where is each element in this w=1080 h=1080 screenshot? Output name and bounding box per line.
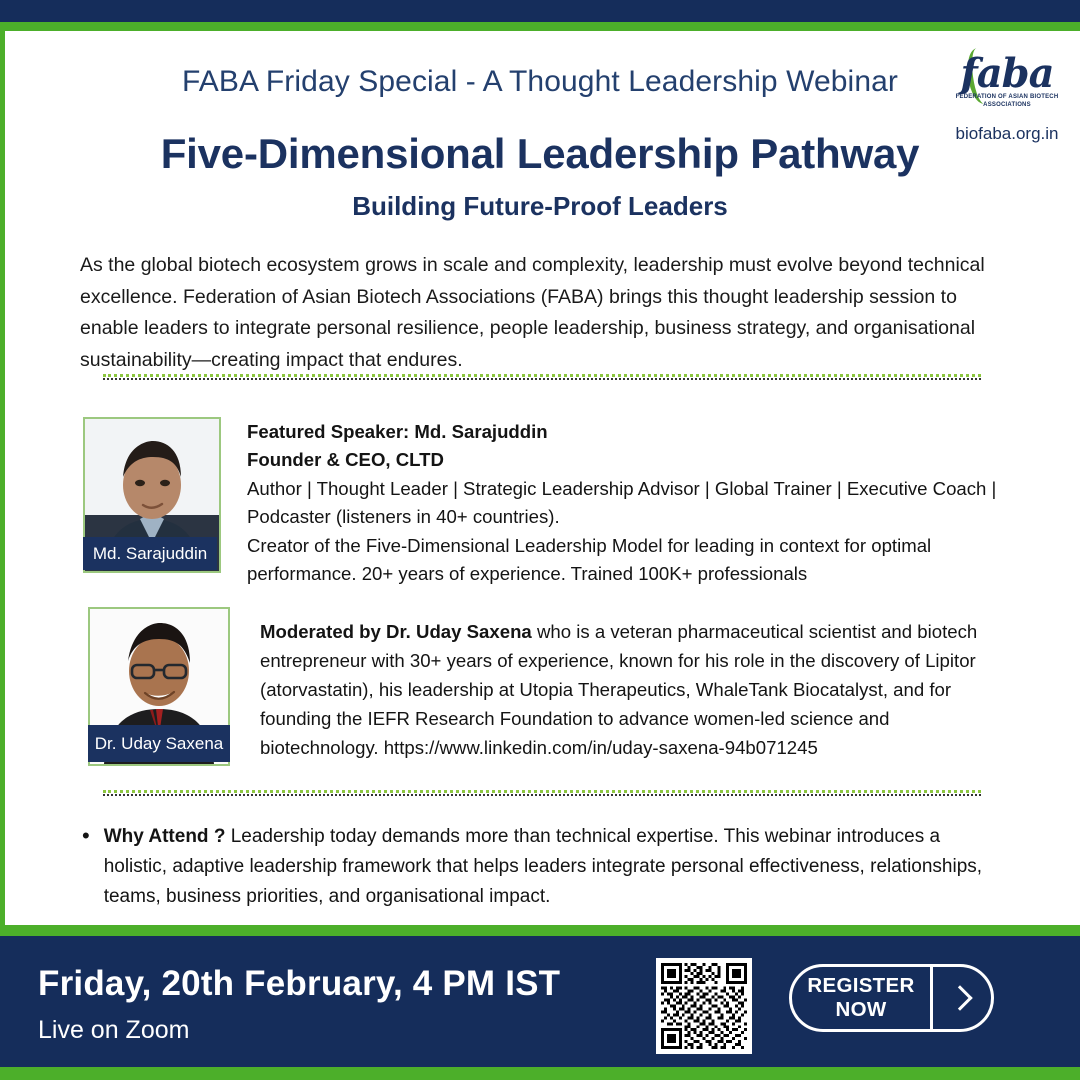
speaker-credentials: Author | Thought Leader | Strategic Lead…: [247, 475, 999, 532]
faba-logo-mark: faba FEDERATION OF ASIAN BIOTECH ASSOCIA…: [948, 48, 1066, 118]
bullet-icon: •: [82, 822, 90, 911]
footer-bar: Friday, 20th February, 4 PM IST Live on …: [0, 936, 1080, 1067]
why-attend-text: Why Attend ? Leadership today demands mo…: [104, 822, 1002, 911]
event-date: Friday, 20th February, 4 PM IST: [38, 964, 560, 1004]
speaker-role: Founder & CEO, CLTD: [247, 446, 999, 474]
moderator-lead: Moderated by Dr. Uday Saxena: [260, 621, 532, 642]
event-platform: Live on Zoom: [38, 1016, 189, 1045]
why-attend-section: • Why Attend ? Leadership today demands …: [82, 822, 1002, 911]
faba-tagline: FEDERATION OF ASIAN BIOTECH ASSOCIATIONS: [948, 94, 1066, 109]
page-subtitle: Building Future-Proof Leaders: [0, 191, 1080, 222]
qr-code[interactable]: [656, 958, 752, 1054]
qr-code-art: [661, 963, 747, 1049]
faba-website-url: biofaba.org.in: [948, 124, 1066, 144]
register-now-button[interactable]: REGISTER NOW: [789, 964, 994, 1032]
speaker-details: Featured Speaker: Md. Sarajuddin Founder…: [247, 418, 999, 589]
intro-paragraph: As the global biotech ecosystem grows in…: [80, 250, 1000, 376]
header: FABA Friday Special - A Thought Leadersh…: [0, 52, 1080, 237]
divider-green-dots: [103, 374, 981, 377]
top-navy-band: [0, 0, 1080, 22]
moderator-details: Moderated by Dr. Uday Saxena who is a ve…: [260, 617, 1000, 762]
divider-dark-dots: [103, 378, 981, 380]
kicker-text: FABA Friday Special - A Thought Leadersh…: [0, 65, 1080, 99]
divider-top: [103, 374, 981, 380]
page-title: Five-Dimensional Leadership Pathway: [0, 130, 1080, 178]
faba-wordmark: faba: [948, 50, 1066, 97]
faba-logo: faba FEDERATION OF ASIAN BIOTECH ASSOCIA…: [948, 48, 1066, 144]
footer-green-band-bottom: [0, 1067, 1080, 1080]
moderator-name-plate: Dr. Uday Saxena: [88, 725, 230, 762]
why-attend-body: Leadership today demands more than techn…: [104, 826, 982, 907]
speaker-label: Featured Speaker: Md. Sarajuddin: [247, 418, 999, 446]
why-attend-lead: Why Attend ?: [104, 826, 226, 847]
divider-green-dots: [103, 790, 981, 793]
speaker-bio: Creator of the Five-Dimensional Leadersh…: [247, 532, 999, 589]
chevron-right-icon: [933, 989, 991, 1007]
register-now-label: REGISTER NOW: [792, 974, 930, 1022]
top-green-band: [0, 22, 1080, 31]
footer-green-band-top: [0, 925, 1080, 936]
divider-dark-dots: [103, 794, 981, 796]
divider-bottom: [103, 790, 981, 796]
speaker-name-plate: Md. Sarajuddin: [83, 537, 217, 570]
